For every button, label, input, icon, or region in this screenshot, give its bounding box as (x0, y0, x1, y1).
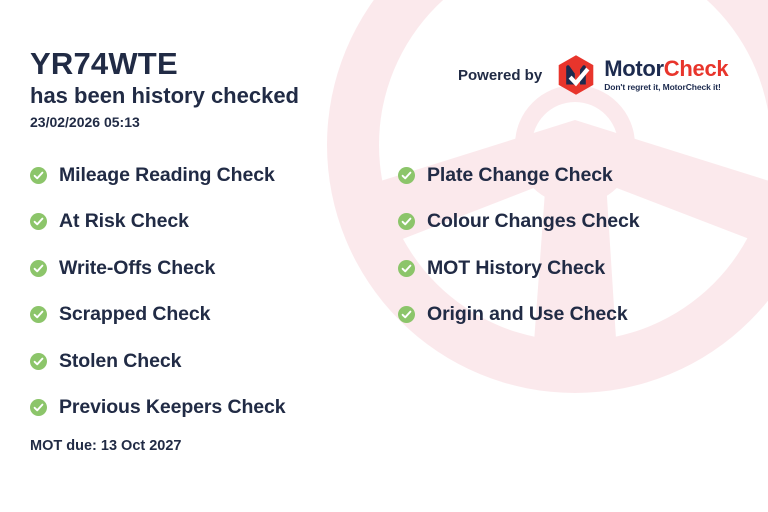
check-label: Previous Keepers Check (59, 396, 286, 419)
check-label: At Risk Check (59, 210, 189, 233)
motorcheck-wordmark: MotorCheck (604, 58, 728, 80)
check-circle-icon (30, 167, 47, 184)
check-label: MOT History Check (427, 257, 605, 280)
motorcheck-logo[interactable]: MotorCheck Don't regret it, MotorCheck i… (556, 54, 728, 96)
checks-column-right: Plate Change Check Colour Changes Check … (398, 152, 758, 338)
check-label: Mileage Reading Check (59, 164, 275, 187)
check-circle-icon (398, 306, 415, 323)
wordmark-motor: Motor (604, 56, 664, 81)
check-item: Scrapped Check (30, 292, 390, 339)
check-circle-icon (30, 306, 47, 323)
check-circle-icon (398, 213, 415, 230)
check-circle-icon (30, 353, 47, 370)
status-line: has been history checked (30, 84, 299, 108)
check-item: Origin and Use Check (398, 292, 758, 339)
check-item: Write-Offs Check (30, 245, 390, 292)
brand-tagline: Don't regret it, MotorCheck it! (604, 82, 728, 92)
check-label: Origin and Use Check (427, 303, 628, 326)
check-label: Stolen Check (59, 350, 181, 373)
branding-block: Powered by MotorCheck Don't regret it, M… (458, 54, 728, 96)
motorcheck-wordmark-block: MotorCheck Don't regret it, MotorCheck i… (604, 58, 728, 92)
check-item: Mileage Reading Check (30, 152, 390, 199)
powered-by-label: Powered by (458, 67, 542, 84)
check-item: Plate Change Check (398, 152, 758, 199)
check-item: Colour Changes Check (398, 199, 758, 246)
check-label: Write-Offs Check (59, 257, 215, 280)
history-check-card: YR74WTE has been history checked 23/02/2… (0, 0, 768, 512)
report-timestamp: 23/02/2026 05:13 (30, 114, 140, 130)
page-title: YR74WTE (30, 48, 178, 81)
check-item: MOT History Check (398, 245, 758, 292)
check-item: At Risk Check (30, 199, 390, 246)
check-label: Scrapped Check (59, 303, 210, 326)
check-label: Colour Changes Check (427, 210, 640, 233)
check-label: Plate Change Check (427, 164, 613, 187)
check-circle-icon (398, 167, 415, 184)
check-circle-icon (30, 213, 47, 230)
check-item: Previous Keepers Check (30, 385, 390, 432)
check-circle-icon (30, 260, 47, 277)
check-circle-icon (30, 399, 47, 416)
checks-column-left: Mileage Reading Check At Risk Check Writ… (30, 152, 390, 431)
check-circle-icon (398, 260, 415, 277)
wordmark-check: Check (664, 56, 729, 81)
check-item: Stolen Check (30, 338, 390, 385)
motorcheck-hexagon-icon (556, 54, 596, 96)
mot-due-text: MOT due: 13 Oct 2027 (30, 438, 182, 454)
